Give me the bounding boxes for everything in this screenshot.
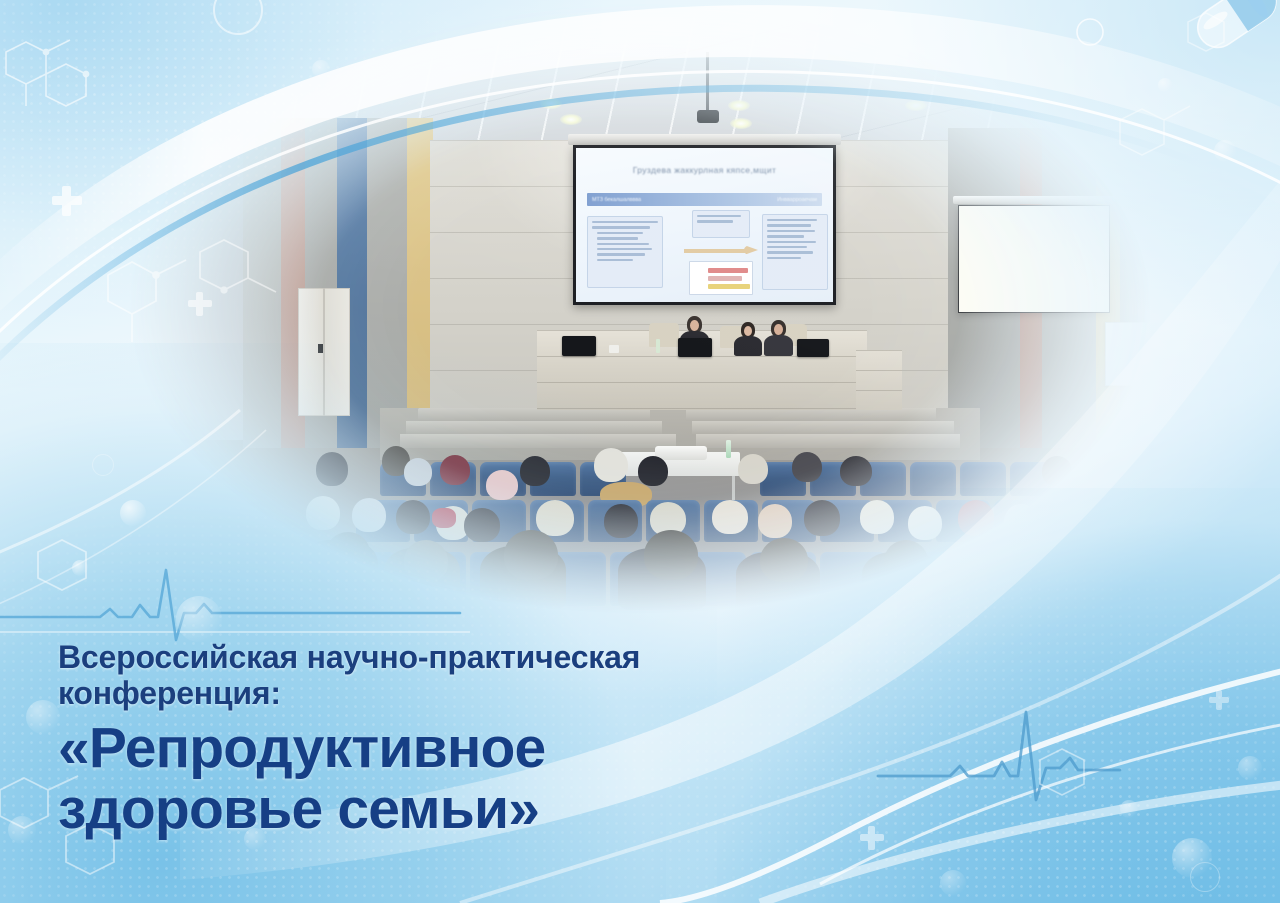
ceiling-light — [162, 98, 184, 109]
audience-head — [326, 532, 370, 574]
presentation-slide: Груздева жаккурлная кяпсе,мщит МТЗ бекал… — [576, 148, 833, 302]
conference-poster: Груздева жаккурлная кяпсе,мщит МТЗ бекал… — [0, 0, 1280, 903]
ceiling-light — [540, 98, 562, 109]
slide-title: Груздева жаккурлная кяпсе,мщит — [576, 165, 833, 175]
slide-textbox-right — [762, 214, 828, 290]
audience-head — [306, 496, 340, 530]
ceiling-light — [905, 100, 927, 111]
conference-hall-photo: Груздева жаккурлная кяпсе,мщит МТЗ бекал… — [0, 0, 1280, 700]
wall-panel-grey — [367, 118, 407, 448]
auditorium-seat — [960, 462, 1006, 496]
audience-head — [1080, 526, 1124, 568]
audience-head — [440, 455, 470, 485]
auditorium-seat — [910, 462, 956, 496]
audience-head — [520, 456, 550, 486]
presenter-face — [690, 320, 699, 331]
presenter-chair — [649, 323, 679, 347]
presenter-face — [774, 324, 783, 335]
slide-textbox-center-top — [692, 210, 750, 238]
audience-head — [804, 500, 840, 536]
slide-mini-chart — [689, 261, 753, 295]
audience-head — [432, 508, 456, 528]
presenter-body — [734, 336, 762, 356]
audience-head — [536, 500, 574, 536]
flipchart-base — [1108, 435, 1148, 440]
audience-head — [1098, 460, 1128, 490]
audience-head — [638, 456, 668, 486]
door-seam — [323, 288, 325, 416]
flipchart-leg — [1126, 386, 1129, 438]
audience-head — [316, 452, 348, 486]
poster-text-block: Всероссийская научно-практическая конфер… — [58, 640, 878, 840]
audience-head — [884, 540, 928, 582]
ceiling-light — [276, 91, 298, 102]
ceiling-light — [1078, 110, 1100, 121]
presenter-body — [764, 335, 793, 356]
audience-head — [758, 504, 792, 538]
wall-panel-grey — [1120, 128, 1146, 448]
audience-head — [908, 506, 942, 540]
ceiling-light — [728, 100, 750, 111]
audience-head — [1042, 456, 1072, 486]
secondary-screen-roller — [953, 196, 1115, 204]
audience-head — [712, 500, 748, 534]
audience-head — [352, 498, 386, 532]
presenter-face — [744, 326, 752, 336]
audience-head — [486, 470, 518, 500]
presenter-monitor — [562, 336, 596, 356]
av-equipment — [655, 446, 707, 460]
audience-head — [594, 448, 628, 482]
audience-head — [504, 530, 558, 580]
slide-header-left: МТЗ бекалшалввва — [592, 197, 641, 203]
process-arrow — [684, 247, 758, 254]
audience-head — [404, 540, 448, 582]
audience-head — [464, 508, 500, 542]
sanitizer-bottle — [726, 440, 731, 458]
table-bottle — [656, 339, 660, 353]
presenter-monitor — [797, 339, 829, 357]
audience-head — [958, 500, 994, 536]
audience-head — [760, 538, 808, 582]
audience-head — [792, 452, 822, 482]
slide-header-bar: МТЗ бекалшалввва Инвварроаечам — [587, 193, 822, 206]
window-curtain — [1163, 150, 1235, 450]
conference-subtitle: Всероссийская научно-практическая конфер… — [58, 640, 878, 712]
projector-mount-rod — [706, 52, 709, 114]
audience-head — [604, 504, 638, 538]
ceiling-light — [560, 114, 582, 125]
slide-header-right: Инвварроаечам — [777, 197, 817, 203]
flipchart-board — [1105, 322, 1151, 386]
wall-panel-grey — [243, 118, 281, 448]
audience-head — [860, 500, 894, 534]
audience-head — [644, 530, 698, 580]
projection-screen-roller — [568, 134, 841, 145]
presidium-side-cabinet — [856, 350, 902, 410]
table-cup — [609, 345, 619, 353]
audience-head — [404, 458, 432, 486]
door-handle — [318, 344, 323, 353]
photo-inner: Груздева жаккурлная кяпсе,мщит МТЗ бекал… — [0, 0, 1280, 700]
audience-head — [1004, 504, 1038, 538]
secondary-projection-screen — [958, 205, 1110, 313]
ceiling-light — [730, 118, 752, 129]
audience-head — [984, 534, 1030, 578]
presenter-monitor — [678, 338, 712, 357]
audience-head — [738, 454, 768, 484]
audience-head — [396, 500, 430, 534]
projection-screen: Груздева жаккурлная кяпсе,мщит МТЗ бекал… — [573, 145, 836, 305]
slide-textbox-left — [587, 216, 663, 288]
projector-device — [697, 110, 719, 123]
audience-head — [840, 456, 872, 486]
conference-title: «Репродуктивное здоровье семьи» — [58, 718, 878, 840]
